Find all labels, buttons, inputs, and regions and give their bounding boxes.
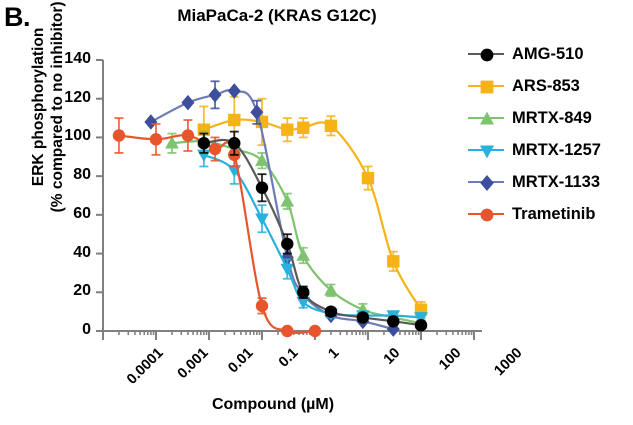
- data-point-circle: [357, 311, 369, 323]
- data-point-circle: [228, 137, 240, 149]
- legend-item-amg-510[interactable]: AMG-510: [466, 38, 601, 70]
- y-tick-label: 120: [45, 89, 91, 107]
- legend-key: [466, 75, 506, 97]
- legend-marker-triangle-up-icon: [478, 110, 496, 128]
- data-point-circle: [481, 49, 494, 62]
- legend-key: [466, 107, 506, 129]
- data-point-square: [297, 122, 309, 134]
- data-point-circle: [281, 238, 293, 250]
- legend-marker-circle-icon: [478, 46, 496, 64]
- data-point-square: [325, 120, 337, 132]
- data-point-square: [362, 172, 374, 184]
- series-trametinib: [113, 118, 321, 337]
- legend-marker-triangle-down-icon: [478, 142, 496, 160]
- data-point-circle: [256, 300, 268, 312]
- legend-label: AMG-510: [512, 45, 584, 64]
- legend-item-mrtx-849[interactable]: MRTX-849: [466, 102, 601, 134]
- legend-label: MRTX-1257: [512, 141, 601, 160]
- data-point-square: [481, 81, 494, 94]
- data-point-triangle-up: [280, 194, 294, 206]
- y-tick-label: 20: [45, 282, 91, 300]
- data-point-circle: [325, 305, 337, 317]
- legend-label: MRTX-1133: [512, 173, 600, 192]
- y-tick-label: 60: [45, 205, 91, 223]
- legend-marker-square-icon: [478, 78, 496, 96]
- y-tick-label: 140: [45, 50, 91, 68]
- legend-marker-diamond-icon: [478, 174, 496, 192]
- y-tick-label: 40: [45, 244, 91, 262]
- legend-label: Trametinib: [512, 205, 595, 224]
- data-point-circle: [309, 325, 321, 337]
- data-point-triangle-down: [480, 146, 494, 159]
- legend-key: [466, 139, 506, 161]
- legend-key: [466, 171, 506, 193]
- data-point-diamond: [228, 83, 241, 99]
- data-point-circle: [113, 129, 125, 141]
- series-ars-853: [198, 97, 428, 318]
- y-tick-label: 80: [45, 166, 91, 184]
- data-point-square: [387, 255, 399, 267]
- data-point-circle: [150, 133, 162, 145]
- data-point-circle: [182, 129, 194, 141]
- legend-item-mrtx-1257[interactable]: MRTX-1257: [466, 134, 601, 166]
- data-point-square: [228, 114, 240, 126]
- figure-panel-b: B. MiaPaCa-2 (KRAS G12C) ERK phosphoryla…: [0, 0, 633, 425]
- data-point-diamond: [209, 87, 222, 103]
- legend-label: MRTX-849: [512, 109, 592, 128]
- data-point-circle: [281, 325, 293, 337]
- legend-marker-circle-icon: [478, 206, 496, 224]
- data-point-circle: [415, 319, 427, 331]
- legend-item-ars-853[interactable]: ARS-853: [466, 70, 601, 102]
- data-point-circle: [209, 143, 221, 155]
- legend-item-trametinib[interactable]: Trametinib: [466, 198, 601, 230]
- legend-item-mrtx-1133[interactable]: MRTX-1133: [466, 166, 601, 198]
- data-point-circle: [256, 182, 268, 194]
- legend-label: ARS-853: [512, 77, 580, 96]
- data-point-circle: [198, 137, 210, 149]
- data-point-square: [281, 123, 293, 135]
- legend-key: [466, 203, 506, 225]
- data-point-diamond: [181, 95, 194, 111]
- series-amg-510: [198, 132, 428, 332]
- data-series: [113, 81, 428, 337]
- data-point-circle: [297, 286, 309, 298]
- data-point-triangle-down: [255, 213, 269, 225]
- y-tick-label: 100: [45, 127, 91, 145]
- series-mrtx-1257: [197, 143, 428, 324]
- legend-key: [466, 43, 506, 65]
- data-point-circle: [481, 209, 494, 222]
- data-point-circle: [387, 315, 399, 327]
- data-point-triangle-up: [480, 112, 494, 125]
- y-tick-label: 0: [45, 321, 91, 339]
- data-point-diamond: [480, 175, 493, 191]
- chart-legend: AMG-510ARS-853MRTX-849MRTX-1257MRTX-1133…: [466, 38, 601, 230]
- data-point-triangle-up: [296, 248, 310, 260]
